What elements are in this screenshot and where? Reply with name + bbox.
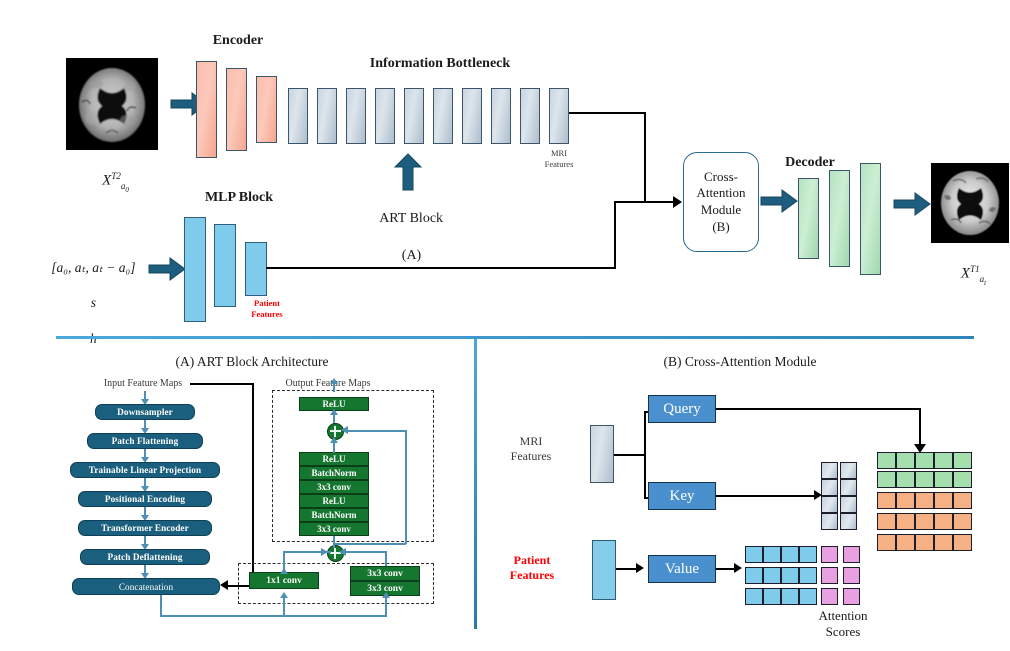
panelB-value-cell-r3c4 (799, 588, 817, 605)
panelA-res-relu-2[interactable]: ReLU (299, 494, 369, 508)
panelB-out-cell-r3c4 (934, 492, 953, 509)
art-block-label: ART Block (A) (340, 192, 476, 265)
panelB-key-cell-r2c2 (840, 479, 857, 496)
panelB-value-cell-r2c1 (745, 567, 763, 584)
line-ca-entry (614, 201, 676, 203)
panelB-out-cell-r5c3 (915, 534, 934, 551)
panelB-score-cell-r2c2 (843, 567, 860, 584)
panelA-res-conv-2[interactable]: 3x3 conv (299, 522, 369, 536)
mlp-bar-1 (184, 217, 206, 322)
panelA-step-trainable-linear-projection[interactable]: Trainable Linear Projection (70, 462, 220, 478)
a-lower-to-upper (333, 542, 335, 548)
input-feature-maps-label: Input Feature Maps (78, 378, 208, 390)
a-inner-skip-v (405, 430, 407, 544)
cross-attention-module-box[interactable]: Cross-AttentionModule (B) (683, 152, 759, 252)
bottleneck-bar-2 (317, 88, 337, 144)
panelB-value-cell-r1c3 (781, 546, 799, 563)
decoder-title: Decoder (755, 155, 865, 171)
bottleneck-bar-3 (346, 88, 366, 144)
decoder-bar-1 (798, 178, 819, 259)
panelA-step-downsampler[interactable]: Downsampler (95, 404, 195, 420)
panelB-key-box[interactable]: Key (648, 482, 716, 510)
encoder-bar-1 (196, 61, 217, 158)
panelA-step-transformer-encoder[interactable]: Transformer Encoder (78, 520, 212, 536)
panelB-value-cell-r2c3 (781, 567, 799, 584)
panelB-out-cell-r3c3 (915, 492, 934, 509)
panelB-key-path-h (716, 495, 816, 497)
a-skip-vert (252, 383, 254, 586)
panelB-patient-feature-bar (592, 540, 616, 600)
a-feed-bottom-h (160, 615, 387, 617)
panelB-value-arrowhead (636, 563, 644, 573)
panelB-value-cell-r2c4 (799, 567, 817, 584)
encoder-bar-2 (226, 68, 247, 151)
panel-a-title: (A) ART Block Architecture (62, 354, 442, 370)
a-inner-skip-h-bot (334, 543, 406, 545)
panelB-out-cell-r5c5 (953, 534, 972, 551)
panelB-out-cell-r5c4 (934, 534, 953, 551)
bottleneck-bar-8 (491, 88, 511, 144)
encoder-title: Encoder (178, 33, 298, 49)
panelB-out-cell-r3c2 (896, 492, 915, 509)
panelB-score-cell-r3c2 (843, 588, 860, 605)
panelB-out-cell-r1c5 (953, 452, 972, 469)
arrow-input-to-mlp (148, 255, 186, 283)
a-skip-top (190, 383, 254, 385)
panelB-value-cell-r3c1 (745, 588, 763, 605)
panelB-key-cell-r1c2 (840, 462, 857, 479)
panelA-res-conv-1[interactable]: 3x3 conv (299, 480, 369, 494)
panelB-key-cell-r4c2 (840, 513, 857, 530)
panelB-value-cell-r1c1 (745, 546, 763, 563)
panelB-mri-features-label: MRIFeatures (500, 434, 562, 464)
panelB-value-cell-r1c4 (799, 546, 817, 563)
a-inner-skip-h-top (346, 430, 406, 432)
panelB-out-cell-r2c5 (953, 471, 972, 488)
panelB-key-cell-r2c1 (821, 479, 838, 496)
panelB-out-cell-r2c2 (896, 471, 915, 488)
output-feature-maps-label: Output Feature Maps (263, 378, 393, 390)
a-feed-arrow-right (382, 592, 390, 598)
encoder-bar-3 (256, 76, 277, 143)
panelB-score-cell-r2c1 (821, 567, 838, 584)
attention-scores-label: AttentionScores (795, 608, 891, 641)
panelB-mri-branch-h (614, 454, 646, 456)
panelB-out-cell-r1c3 (915, 452, 934, 469)
bottleneck-bar-9 (520, 88, 540, 144)
bottleneck-bar-5 (404, 88, 424, 144)
line-patient-to-ca-v (614, 201, 616, 269)
input-mri-image (66, 58, 158, 150)
a-feed-v-left (283, 596, 285, 616)
panelB-out-cell-r1c4 (934, 452, 953, 469)
panelB-key-cell-r1c1 (821, 462, 838, 479)
a-feed-v-right (385, 596, 387, 616)
panelA-conv-3x3-a[interactable]: 3x3 conv (350, 566, 420, 581)
panelB-out-cell-r2c1 (877, 471, 896, 488)
a-node-left-arrow (321, 548, 328, 556)
mlp-bar-2 (214, 224, 236, 307)
mlp-input-expression: [a₀, aₜ, aₜ − a₀] s h (24, 241, 156, 348)
panelB-value-cell-r2c2 (763, 567, 781, 584)
line-patient-to-ca (266, 267, 616, 269)
bottleneck-bar-4 (375, 88, 395, 144)
panelB-value-cell-r3c3 (781, 588, 799, 605)
panelB-mri-feature-bar (590, 425, 614, 483)
panelB-out-cell-r2c4 (934, 471, 953, 488)
a-res-arrow-up (330, 409, 338, 415)
mlp-input-line1: [a₀, aₜ, aₜ − a₀] (51, 260, 135, 275)
panelB-key-cell-r3c1 (821, 496, 838, 513)
panelB-out-cell-r5c2 (896, 534, 915, 551)
art-block-sub: (A) (402, 248, 421, 263)
bottleneck-bar-1 (288, 88, 308, 144)
panelB-patient-to-value (616, 568, 638, 570)
panelB-out-cell-r3c5 (953, 492, 972, 509)
patient-features-label-top: PatientFeatures (236, 298, 298, 319)
vertical-divider (474, 339, 477, 629)
panelB-out-cell-r4c1 (877, 513, 896, 530)
panelA-step-concatenation[interactable]: Concatenation (72, 578, 220, 595)
panelB-value-cell-r3c2 (763, 588, 781, 605)
panelB-query-path-h (716, 408, 921, 410)
bottleneck-bar-7 (462, 88, 482, 144)
panelB-mri-branch-v (644, 411, 646, 499)
panelA-step-patch-deflattening[interactable]: Patch Deflattening (80, 549, 210, 565)
panelB-patient-features-label: PatientFeatures (498, 553, 566, 583)
a-skip-arrowhead (220, 580, 228, 590)
panelB-out-cell-r4c2 (896, 513, 915, 530)
decoder-bar-3 (860, 163, 881, 275)
panelB-out-cell-r1c1 (877, 452, 896, 469)
a-output-arrowhead (330, 378, 338, 384)
panelB-key-cell-r3c2 (840, 496, 857, 513)
panelB-out-cell-r2c3 (915, 471, 934, 488)
panelB-score-cell-r1c1 (821, 546, 838, 563)
horizontal-divider (56, 336, 974, 339)
bottleneck-bar-6 (433, 88, 453, 144)
cross-attention-sublabel: (B) (712, 219, 729, 234)
mlp-bar-3 (245, 242, 267, 296)
panelB-value-cell-r1c2 (763, 546, 781, 563)
panelB-out-cell-r4c5 (953, 513, 972, 530)
mlp-input-line2: s (91, 295, 96, 310)
panelB-score-cell-r1c2 (843, 546, 860, 563)
a-inner-skip-arrow (341, 426, 348, 434)
output-image-caption: XT1at (931, 248, 1009, 286)
arrow-art-block-up (393, 153, 423, 191)
decoder-bar-2 (829, 170, 850, 267)
a-res-arrow-mid (330, 437, 338, 443)
panelB-query-path-v (919, 408, 921, 446)
a-node-right-arrow (339, 548, 346, 556)
bottleneck-bar-10 (549, 88, 569, 144)
panelA-res-batchnorm-2[interactable]: BatchNorm (299, 508, 369, 522)
arrow-ca-to-decoder (760, 187, 798, 215)
panelB-out-cell-r5c1 (877, 534, 896, 551)
a-bot-left-arrow (280, 568, 288, 574)
a-bot-right-h (341, 551, 387, 553)
panel-b-title: (B) Cross-Attention Module (560, 354, 920, 370)
panelA-conv-1x1[interactable]: 1x1 conv (249, 572, 319, 589)
art-block-text: ART Block (379, 211, 443, 226)
panelA-step-positional-encoding[interactable]: Positional Encoding (78, 491, 212, 507)
panelA-step-patch-flattening[interactable]: Patch Flattening (87, 433, 203, 449)
bottleneck-title: Information Bottleneck (320, 56, 560, 72)
arrowhead-ca-entry (673, 196, 682, 208)
arrow-decoder-to-output (893, 190, 931, 218)
panelB-key-cell-r4c1 (821, 513, 838, 530)
panelB-query-box[interactable]: Query (648, 395, 716, 423)
panelB-out-cell-r1c2 (896, 452, 915, 469)
mri-features-label-top: MRIFeatures (531, 148, 587, 169)
panelA-res-relu-1[interactable]: ReLU (299, 452, 369, 466)
panelB-score-cell-r3c1 (821, 588, 838, 605)
output-mri-image (931, 163, 1009, 243)
panelB-out-cell-r4c4 (934, 513, 953, 530)
line-mri-to-ca-vertical (644, 112, 646, 203)
line-mri-to-ca-horizontal (569, 112, 646, 114)
panelB-out-cell-r4c3 (915, 513, 934, 530)
a-feed-arrow-left (280, 592, 288, 598)
a-feed-v-src (160, 595, 162, 616)
panelA-res-batchnorm-1[interactable]: BatchNorm (299, 466, 369, 480)
panelB-out-cell-r3c1 (877, 492, 896, 509)
a-bot-right-v (385, 552, 387, 566)
mlp-block-title: MLP Block (178, 190, 300, 206)
cross-attention-label: Cross-AttentionModule (696, 169, 745, 217)
input-image-caption: XT2a0 (66, 155, 158, 193)
panelB-value-box[interactable]: Value (648, 555, 716, 583)
panelA-residual-stack: ReLU BatchNorm 3x3 conv ReLU BatchNorm 3… (299, 452, 369, 536)
panelB-value-path-arrowhead (734, 563, 742, 573)
